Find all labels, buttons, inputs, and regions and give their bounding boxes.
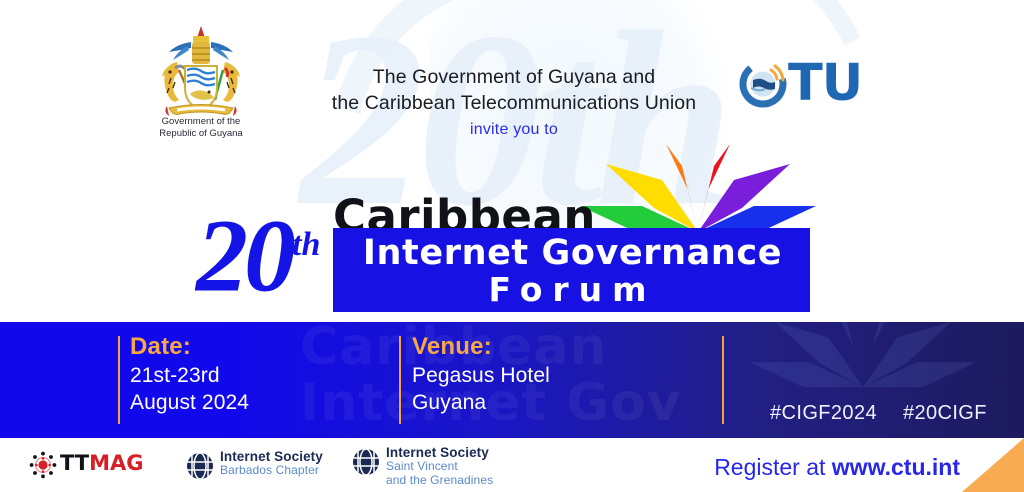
guyana-coat-of-arms-icon [147,22,255,122]
venue-field: Venue: Pegasus Hotel Guyana [412,332,550,416]
coat-of-arms-caption: Government of the Republic of Guyana [128,116,274,140]
hashtag-20cigf: #20CIGF [903,402,987,424]
isoc-svg-chapter-line1: Saint Vincent [386,460,493,474]
ordinal-number: 20 [196,199,292,314]
organizer-line-1: The Government of Guyana and [373,66,655,88]
title-line-forum: Forum [345,270,800,310]
hashtag-cigf2024: #CIGF2024 [770,402,877,424]
ttmag-dot-icon [28,450,58,480]
isoc-svg-name: Internet Society [386,445,493,460]
venue-value-line1: Pegasus Hotel [412,362,550,389]
arms-caption-line2: Republic of Guyana [159,128,242,139]
event-title-box: Internet Governance Forum [333,228,810,312]
isoc-barbados-chapter: Barbados Chapter [220,464,323,478]
isoc-globe-icon [352,448,380,476]
organizer-heading: The Government of Guyana and the Caribbe… [288,64,740,116]
title-line-internet-governance: Internet Governance [345,232,800,274]
venue-value-line2: Guyana [412,389,550,416]
date-label: Date: [130,332,249,362]
divider-date [118,336,120,424]
bar-fan-watermark [748,322,978,410]
divider-hashtags [722,336,724,424]
date-value-line1: 21st-23rd [130,362,249,389]
ttmag-tt-text: TT [60,451,89,475]
organizer-line-2: the Caribbean Telecommunications Union [332,92,696,114]
register-call-to-action[interactable]: Register at www.ctu.int [700,452,960,482]
ttmag-logo: TTMAG [28,450,148,480]
isoc-svg-chapter-line2: and the Grenadines [386,474,493,488]
arms-caption-line1: Government of the [162,116,241,127]
event-banner: 20th [0,0,1024,492]
invite-text: invite you to [288,121,740,139]
ctu-logo: TU [737,58,871,114]
venue-label: Venue: [412,332,550,362]
ctu-globe-icon [737,58,789,114]
register-url-text[interactable]: www.ctu.int [832,454,960,480]
divider-venue [399,336,401,424]
colour-fan-graphic [578,142,818,234]
hashtag-group: #CIGF2024 #20CIGF [770,402,987,425]
date-value-line2: August 2024 [130,389,249,416]
isoc-barbados-text: Internet Society Barbados Chapter [220,449,323,478]
ttmag-wordmark: TTMAG [60,448,144,478]
ctu-logo-text: TU [788,56,862,112]
isoc-globe-icon [186,452,214,480]
ttmag-mag-text: MAG [89,451,143,475]
corner-triangle-accent [962,438,1024,492]
date-field: Date: 21st-23rd August 2024 [130,332,249,416]
isoc-saint-vincent-text: Internet Society Saint Vincent and the G… [386,445,493,487]
isoc-barbados-name: Internet Society [220,449,323,464]
register-prefix-text: Register at [714,454,832,480]
ordinal-suffix: th [292,226,320,263]
